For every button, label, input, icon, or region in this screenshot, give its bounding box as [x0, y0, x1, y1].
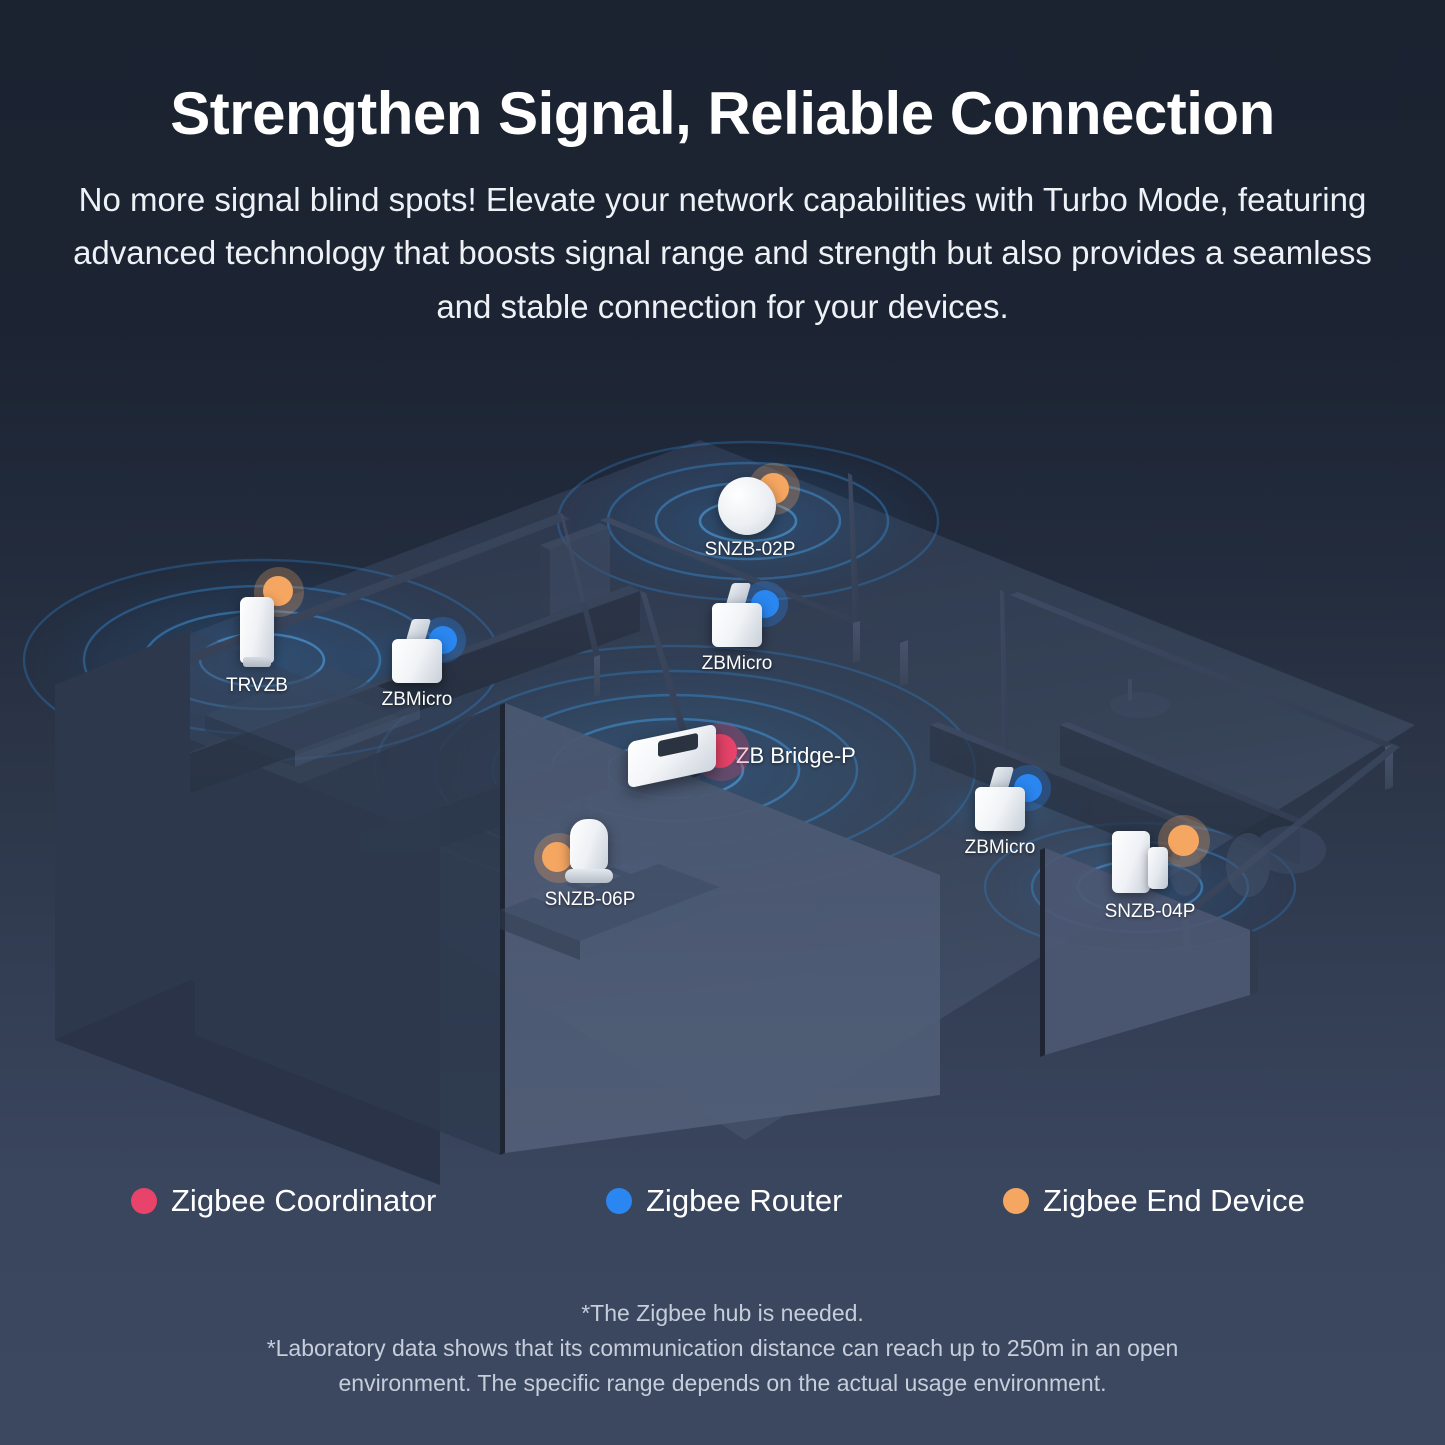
- promo-page: Strengthen Signal, Reliable Connection N…: [0, 0, 1445, 1445]
- snzb-04p-magnet: [1148, 847, 1168, 889]
- device-label-snzb-04p: SNZB-04P: [1105, 901, 1196, 923]
- end-device-dot-icon: [542, 842, 572, 872]
- legend-item-zigbee-end-device: Zigbee End Device: [1003, 1177, 1305, 1225]
- device-label-zbmicro-3: ZBMicro: [965, 837, 1036, 859]
- legend-label-coordinator: Zigbee Coordinator: [171, 1183, 436, 1219]
- zbmicro-body: [975, 787, 1025, 831]
- legend-label-end-device: Zigbee End Device: [1043, 1183, 1305, 1219]
- footnote-line-1: *The Zigbee hub is needed.: [0, 1296, 1445, 1331]
- device-label-trvzb: TRVZB: [226, 675, 288, 697]
- device-label-snzb-06p: SNZB-06P: [545, 889, 636, 911]
- snzb-06p-body: [570, 819, 608, 871]
- device-zbmicro-1[interactable]: ZBMicro: [392, 623, 454, 695]
- end-device-dot-icon: [1168, 825, 1199, 856]
- device-label-zbmicro-2: ZBMicro: [702, 653, 773, 675]
- page-title: Strengthen Signal, Reliable Connection: [0, 82, 1445, 147]
- device-zbmicro-3[interactable]: ZBMicro: [975, 771, 1037, 843]
- snzb-04p-main: [1112, 831, 1150, 893]
- device-snzb-02p[interactable]: SNZB-02P: [718, 477, 782, 541]
- footnote-line-2: *Laboratory data shows that its communic…: [208, 1331, 1238, 1401]
- device-snzb-04p[interactable]: SNZB-04P: [1112, 825, 1198, 907]
- legend-item-zigbee-coordinator: Zigbee Coordinator: [131, 1177, 436, 1225]
- header: Strengthen Signal, Reliable Connection N…: [0, 0, 1445, 333]
- legend: Zigbee Coordinator Zigbee Router Zigbee …: [0, 1177, 1445, 1225]
- device-zbmicro-2[interactable]: ZBMicro: [712, 587, 774, 659]
- device-label-zb-bridge-p: ZB Bridge-P: [736, 743, 856, 769]
- device-trvzb[interactable]: TRVZB: [236, 591, 284, 671]
- snzb-06p-stand: [565, 869, 613, 883]
- coordinator-dot-icon: [131, 1188, 157, 1214]
- zb-bridge-p-body: [628, 724, 716, 789]
- device-zb-bridge-p[interactable]: ZB Bridge-P: [628, 727, 728, 789]
- legend-item-zigbee-router: Zigbee Router: [606, 1177, 842, 1225]
- snzb-02p-body: [718, 477, 776, 535]
- legend-label-router: Zigbee Router: [646, 1183, 842, 1219]
- device-snzb-06p[interactable]: SNZB-06P: [556, 819, 626, 897]
- device-label-snzb-02p: SNZB-02P: [705, 539, 796, 561]
- end-device-dot-icon: [1003, 1188, 1029, 1214]
- page-subtitle: No more signal blind spots! Elevate your…: [58, 173, 1388, 333]
- device-label-zbmicro-1: ZBMicro: [382, 689, 453, 711]
- router-dot-icon: [606, 1188, 632, 1214]
- floorplan-illustration: SNZB-02P TRVZB ZBMicro ZBMicro: [0, 395, 1445, 1195]
- trvzb-base: [243, 657, 271, 667]
- footnote: *The Zigbee hub is needed. *Laboratory d…: [0, 1296, 1445, 1401]
- zbmicro-body: [392, 639, 442, 683]
- trvzb-body: [240, 597, 274, 663]
- zbmicro-body: [712, 603, 762, 647]
